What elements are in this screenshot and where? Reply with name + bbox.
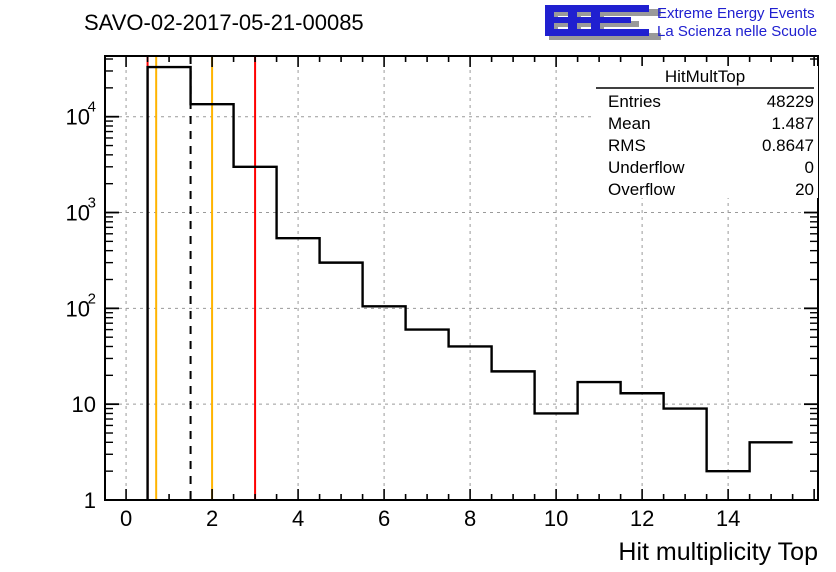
stats-row-value-underflow: 0 (805, 158, 814, 177)
page-title: SAVO-02-2017-05-21-00085 (84, 10, 364, 35)
y-tick-label-exponent: 3 (88, 195, 96, 212)
eee-logo-line2: La Scienza nelle Scuole (657, 23, 817, 40)
histogram-canvas: SAVO-02-2017-05-21-00085 (0, 0, 836, 572)
x-tick-label: 4 (292, 506, 304, 531)
x-tick-label: 6 (378, 506, 390, 531)
x-tick-label: 12 (630, 506, 654, 531)
x-tick-label: 0 (120, 506, 132, 531)
eee-logo-line1: Extreme Energy Events (657, 5, 815, 22)
y-tick-label-exponent: 2 (88, 290, 96, 307)
stats-row-value-rms: 0.8647 (762, 136, 814, 155)
stats-row-label-mean: Mean (608, 114, 651, 133)
x-tick-label: 8 (464, 506, 476, 531)
x-tick-label: 10 (544, 506, 568, 531)
stats-row-value-entries: 48229 (767, 92, 814, 111)
stats-row-value-overflow: 20 (795, 180, 814, 199)
y-tick-label-base: 10 (72, 392, 96, 417)
stats-row-label-rms: RMS (608, 136, 646, 155)
y-tick-label-base: 10 (66, 201, 90, 226)
stats-row-label-underflow: Underflow (608, 158, 685, 177)
stats-row-label-entries: Entries (608, 92, 661, 111)
y-tick-label-base: 1 (84, 488, 96, 513)
x-tick-label: 2 (206, 506, 218, 531)
y-tick-label-exponent: 4 (88, 99, 96, 116)
x-tick-label: 14 (716, 506, 740, 531)
y-tick-label: 1 (84, 488, 96, 513)
eee-logo: Extreme Energy Events La Scienza nelle S… (545, 5, 817, 40)
stats-row-label-overflow: Overflow (608, 180, 676, 199)
y-tick-label-base: 10 (66, 296, 90, 321)
y-tick-label: 10 (72, 392, 96, 417)
stats-row-value-mean: 1.487 (771, 114, 814, 133)
x-axis-title: Hit multiplicity Top (618, 538, 818, 566)
stats-box-title: HitMultTop (665, 67, 745, 86)
stats-box: HitMultTop Entries 48229 Mean 1.487 RMS … (592, 66, 818, 199)
y-tick-label-base: 10 (66, 105, 90, 130)
